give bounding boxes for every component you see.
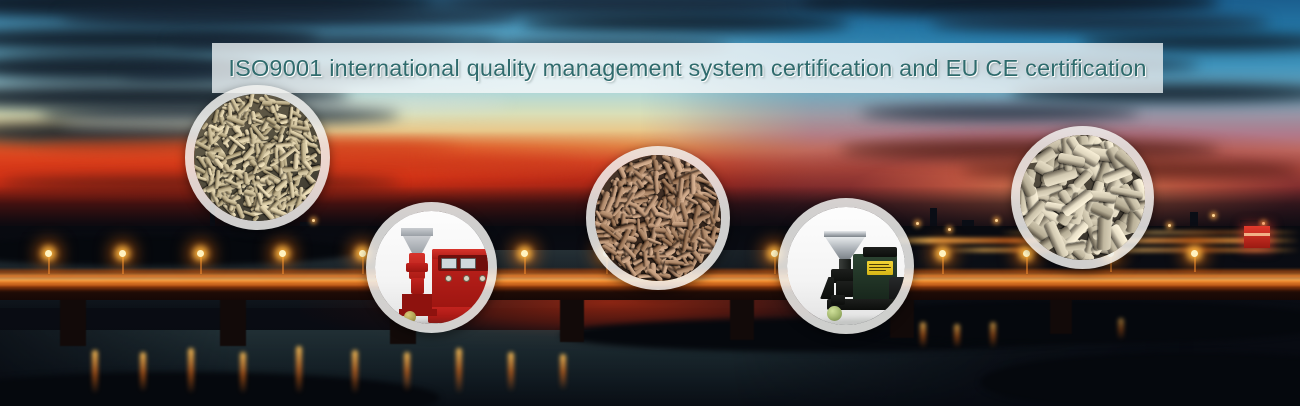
circle-wood-pellets-grey[interactable] (1011, 126, 1154, 269)
red-mill-photo (375, 211, 488, 324)
page-title: ISO9001 international quality management… (212, 43, 1163, 93)
green-mill-photo (787, 207, 905, 325)
circle-wood-pellets-brown[interactable] (586, 146, 730, 290)
pellet-photo-grey (1020, 135, 1145, 260)
circle-red-pellet-mill[interactable] (366, 202, 497, 333)
circle-green-pellet-mill[interactable] (778, 198, 914, 334)
red-billboard (1244, 226, 1270, 248)
pellet-photo-brown (595, 155, 721, 281)
pellet-photo-light (194, 94, 321, 221)
promotional-banner: ISO9001 international quality management… (0, 0, 1300, 406)
circle-wood-pellets-light[interactable] (185, 85, 330, 230)
